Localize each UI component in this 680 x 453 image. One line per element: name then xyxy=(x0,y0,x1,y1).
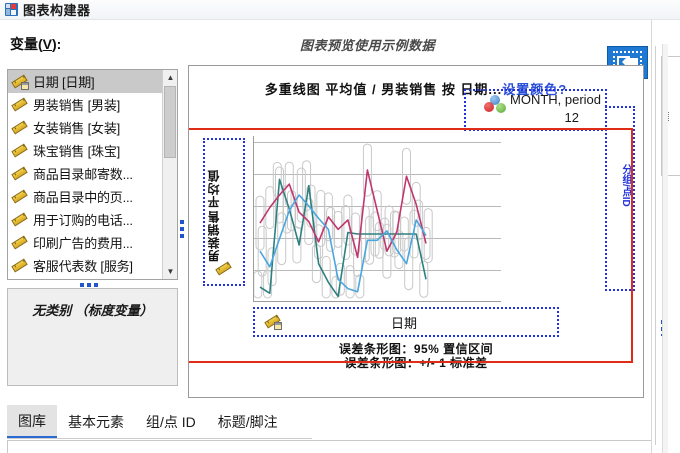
scale-variable-icon xyxy=(12,190,28,204)
variable-list-item[interactable]: 女装销售 [女装] xyxy=(8,116,162,139)
variable-name: 男装销售 [男装] xyxy=(33,95,120,114)
legend-value: 12 xyxy=(565,110,579,125)
footnote-2: 误差条形图：+/- 1 标准差 xyxy=(189,356,643,370)
variable-list-item[interactable]: 印刷广告的费用... xyxy=(8,231,162,254)
footnote-1: 误差条形图：95% 置信区间 xyxy=(189,342,643,356)
variable-list-item[interactable]: 男装销售 [男装] xyxy=(8,93,162,116)
variables-scrollbar[interactable]: ▲ ▼ xyxy=(162,70,177,279)
error-bars xyxy=(254,144,432,298)
grouping-dropzone-label: 分组/点ID xyxy=(607,150,633,220)
scale-date-variable-icon xyxy=(265,315,281,329)
x-axis-dropzone[interactable]: 日期 xyxy=(253,307,559,337)
chart-footnotes: 误差条形图：95% 置信区间 误差条形图：+/- 1 标准差 xyxy=(189,342,643,370)
chart-builder-icon xyxy=(5,3,18,16)
no-category-box[interactable]: 无类别 （标度变量） xyxy=(7,288,178,386)
variable-list-item[interactable]: 用于订购的电话... xyxy=(8,208,162,231)
scale-variable-icon xyxy=(12,213,28,227)
variables-listbox[interactable]: 日期 [日期]男装销售 [男装]女装销售 [女装]珠宝销售 [珠宝]商品目录邮寄… xyxy=(7,69,178,280)
scale-variable-icon xyxy=(12,98,28,112)
tab-1[interactable]: 基本元素 xyxy=(57,405,135,438)
tab-3[interactable]: 标题/脚注 xyxy=(207,405,289,438)
variable-name: 客服代表数 [服务] xyxy=(33,256,133,275)
vertical-splitter-grip[interactable] xyxy=(179,216,185,242)
variable-list-item[interactable]: 客服代表数 [服务] xyxy=(8,254,162,277)
variable-name: 用于订购的电话... xyxy=(33,210,133,229)
scale-variable-icon xyxy=(12,144,28,158)
variable-list-item[interactable]: 商品目录中的页... xyxy=(8,185,162,208)
variables-list[interactable]: 日期 [日期]男装销售 [男装]女装销售 [女装]珠宝销售 [珠宝]商品目录邮寄… xyxy=(8,70,162,279)
scale-variable-icon xyxy=(12,236,28,250)
tab-0[interactable]: 图库 xyxy=(7,405,57,438)
x-axis-label: 日期 xyxy=(281,313,527,332)
plot-svg xyxy=(254,136,501,302)
chart-builder-dialog: 变量(V): 日期 [日期]男装销售 [男装]女装销售 [女装]珠宝销售 [珠宝… xyxy=(0,20,680,453)
bottom-tabstrip[interactable]: 图库基本元素组/点 ID标题/脚注 xyxy=(7,405,312,439)
no-category-label: 无类别 （标度变量） xyxy=(8,300,177,319)
window-titlebar: 图表构建器 xyxy=(0,0,680,20)
grouping-dropzone[interactable]: 分组/点ID xyxy=(605,106,635,291)
y-axis-label-line1: 平均值 xyxy=(205,170,243,209)
variables-label: 变量(V): xyxy=(10,34,61,54)
preview-caption: 图表预览使用示例数据 xyxy=(300,35,435,54)
variable-name: 商品目录中的页... xyxy=(33,187,133,206)
variable-list-item[interactable]: 珠宝销售 [珠宝] xyxy=(8,139,162,162)
scale-variable-icon xyxy=(12,259,28,273)
scrollbar-thumb[interactable] xyxy=(164,86,176,158)
scale-date-variable-icon xyxy=(12,75,28,89)
chevron-up-icon[interactable]: ▲ xyxy=(163,70,178,85)
legend-title: MONTH, period xyxy=(510,92,601,107)
variable-name: 印刷广告的费用... xyxy=(33,233,133,252)
variable-name: 珠宝销售 [珠宝] xyxy=(33,141,120,160)
chart-preview-canvas[interactable]: 多重线图 平均值 / 男装销售 按 日期...设置颜色? 平均值 男装销售 xyxy=(188,65,644,398)
variable-list-item[interactable]: 商品目录邮寄数... xyxy=(8,162,162,185)
variable-list-item[interactable]: 日期 [日期] xyxy=(8,70,162,93)
panel-divider xyxy=(655,46,656,445)
right-vertical-scrollbar[interactable] xyxy=(662,44,668,453)
variables-label-accesskey: V xyxy=(43,36,52,52)
variable-name: 商品目录邮寄数... xyxy=(33,164,133,183)
color-grouping-icon xyxy=(484,95,510,115)
y-axis-label: 平均值 男装销售 xyxy=(205,168,243,264)
scale-variable-icon xyxy=(12,167,28,181)
variable-name: 日期 [日期] xyxy=(33,72,94,91)
scale-variable-icon xyxy=(12,121,28,135)
scale-variable-icon xyxy=(216,262,232,276)
plot-area[interactable] xyxy=(253,136,501,302)
y-axis-dropzone[interactable]: 平均值 男装销售 xyxy=(203,138,245,286)
y-axis-label-line2: 男装销售 xyxy=(205,211,243,263)
chevron-down-icon[interactable]: ▼ xyxy=(163,264,178,279)
legend-dropzone[interactable]: MONTH, period 12 xyxy=(464,89,607,131)
bottom-panel xyxy=(7,440,667,453)
variables-label-suffix: ): xyxy=(52,36,61,52)
tab-2[interactable]: 组/点 ID xyxy=(135,405,207,438)
window-title: 图表构建器 xyxy=(23,0,91,19)
variable-name: 女装销售 [女装] xyxy=(33,118,120,137)
variables-label-prefix: 变量( xyxy=(10,36,43,52)
